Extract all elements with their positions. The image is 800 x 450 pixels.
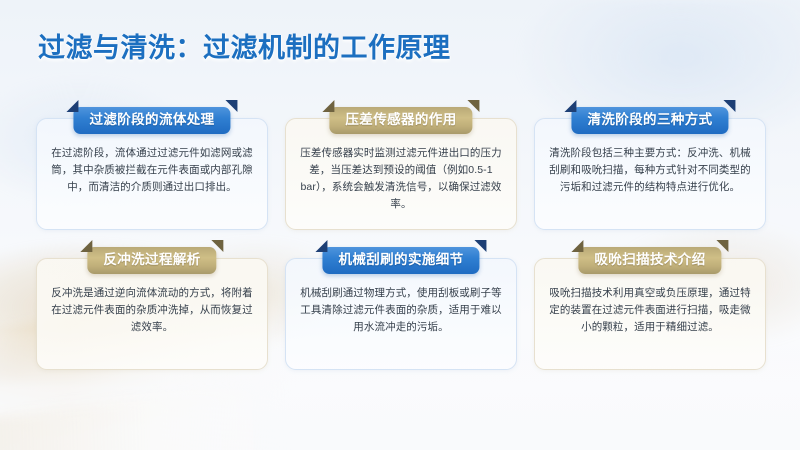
card-grid: 过滤阶段的流体处理 在过滤阶段，流体通过过滤元件如滤网或滤筒，其中杂质被拦截在元… xyxy=(36,118,766,370)
card-5-badge-wrapper: 机械刮刷的实施细节 xyxy=(322,247,479,274)
card-5-badge-label: 机械刮刷的实施细节 xyxy=(338,252,463,267)
ribbon-fold-right-icon xyxy=(226,100,238,112)
card-6-badge-label: 吸吮扫描技术介绍 xyxy=(594,252,705,267)
ribbon-fold-right-icon xyxy=(475,240,487,252)
ribbon-fold-left-icon xyxy=(315,240,327,252)
card-3-badge: 清洗阶段的三种方式 xyxy=(571,107,728,134)
card-3-badge-wrapper: 清洗阶段的三种方式 xyxy=(571,107,728,134)
card-1-badge-wrapper: 过滤阶段的流体处理 xyxy=(73,107,230,134)
ribbon-fold-left-icon xyxy=(564,100,576,112)
card-6-badge-wrapper: 吸吮扫描技术介绍 xyxy=(578,247,721,274)
card-6-body: 吸吮扫描技术利用真空或负压原理，通过特定的装置在过滤元件表面进行扫描，吸走微小的… xyxy=(548,285,752,336)
card-3-badge-label: 清洗阶段的三种方式 xyxy=(587,112,712,127)
ribbon-fold-left-icon xyxy=(571,240,583,252)
content-card-4[interactable]: 反冲洗过程解析 反冲洗是通过逆向流体流动的方式，将附着在过滤元件表面的杂质冲洗掉… xyxy=(36,258,268,370)
content-card-6[interactable]: 吸吮扫描技术介绍 吸吮扫描技术利用真空或负压原理，通过特定的装置在过滤元件表面进… xyxy=(534,258,766,370)
content-card-5[interactable]: 机械刮刷的实施细节 机械刮刷通过物理方式，使用刮板或刷子等工具清除过滤元件表面的… xyxy=(285,258,517,370)
content-card-1[interactable]: 过滤阶段的流体处理 在过滤阶段，流体通过过滤元件如滤网或滤筒，其中杂质被拦截在元… xyxy=(36,118,268,230)
card-4-badge: 反冲洗过程解析 xyxy=(87,247,216,274)
ribbon-fold-left-icon xyxy=(80,240,92,252)
background-wedge-bottom xyxy=(0,372,363,450)
card-4-body: 反冲洗是通过逆向流体流动的方式，将附着在过滤元件表面的杂质冲洗掉，从而恢复过滤效… xyxy=(50,285,254,336)
slide-canvas: 过滤与清洗：过滤机制的工作原理 过滤阶段的流体处理 在过滤阶段，流体通过过滤元件… xyxy=(0,0,800,450)
ribbon-fold-left-icon xyxy=(66,100,78,112)
card-2-badge-wrapper: 压差传感器的作用 xyxy=(329,107,472,134)
card-5-badge: 机械刮刷的实施细节 xyxy=(322,247,479,274)
card-2-body: 压差传感器实时监测过滤元件进出口的压力差，当压差达到预设的阈值（例如0.5-1 … xyxy=(299,145,503,213)
card-5-body: 机械刮刷通过物理方式，使用刮板或刷子等工具清除过滤元件表面的杂质，适用于难以用水… xyxy=(299,285,503,336)
card-4-badge-wrapper: 反冲洗过程解析 xyxy=(87,247,216,274)
ribbon-fold-right-icon xyxy=(724,100,736,112)
page-title: 过滤与清洗：过滤机制的工作原理 xyxy=(38,26,451,65)
card-6-badge: 吸吮扫描技术介绍 xyxy=(578,247,721,274)
ribbon-fold-right-icon xyxy=(468,100,480,112)
card-2-badge-label: 压差传感器的作用 xyxy=(345,112,456,127)
card-2-badge: 压差传感器的作用 xyxy=(329,107,472,134)
ribbon-fold-left-icon xyxy=(322,100,334,112)
content-card-3[interactable]: 清洗阶段的三种方式 清洗阶段包括三种主要方式：反冲洗、机械刮刷和吸吮扫描，每种方… xyxy=(534,118,766,230)
card-1-badge-label: 过滤阶段的流体处理 xyxy=(89,112,214,127)
ribbon-fold-right-icon xyxy=(212,240,224,252)
card-1-body: 在过滤阶段，流体通过过滤元件如滤网或滤筒，其中杂质被拦截在元件表面或内部孔隙中，… xyxy=(50,145,254,196)
card-4-badge-label: 反冲洗过程解析 xyxy=(103,252,200,267)
content-card-2[interactable]: 压差传感器的作用 压差传感器实时监测过滤元件进出口的压力差，当压差达到预设的阈值… xyxy=(285,118,517,230)
ribbon-fold-right-icon xyxy=(717,240,729,252)
card-1-badge: 过滤阶段的流体处理 xyxy=(73,107,230,134)
card-3-body: 清洗阶段包括三种主要方式：反冲洗、机械刮刷和吸吮扫描，每种方式针对不同类型的污垢… xyxy=(548,145,752,196)
